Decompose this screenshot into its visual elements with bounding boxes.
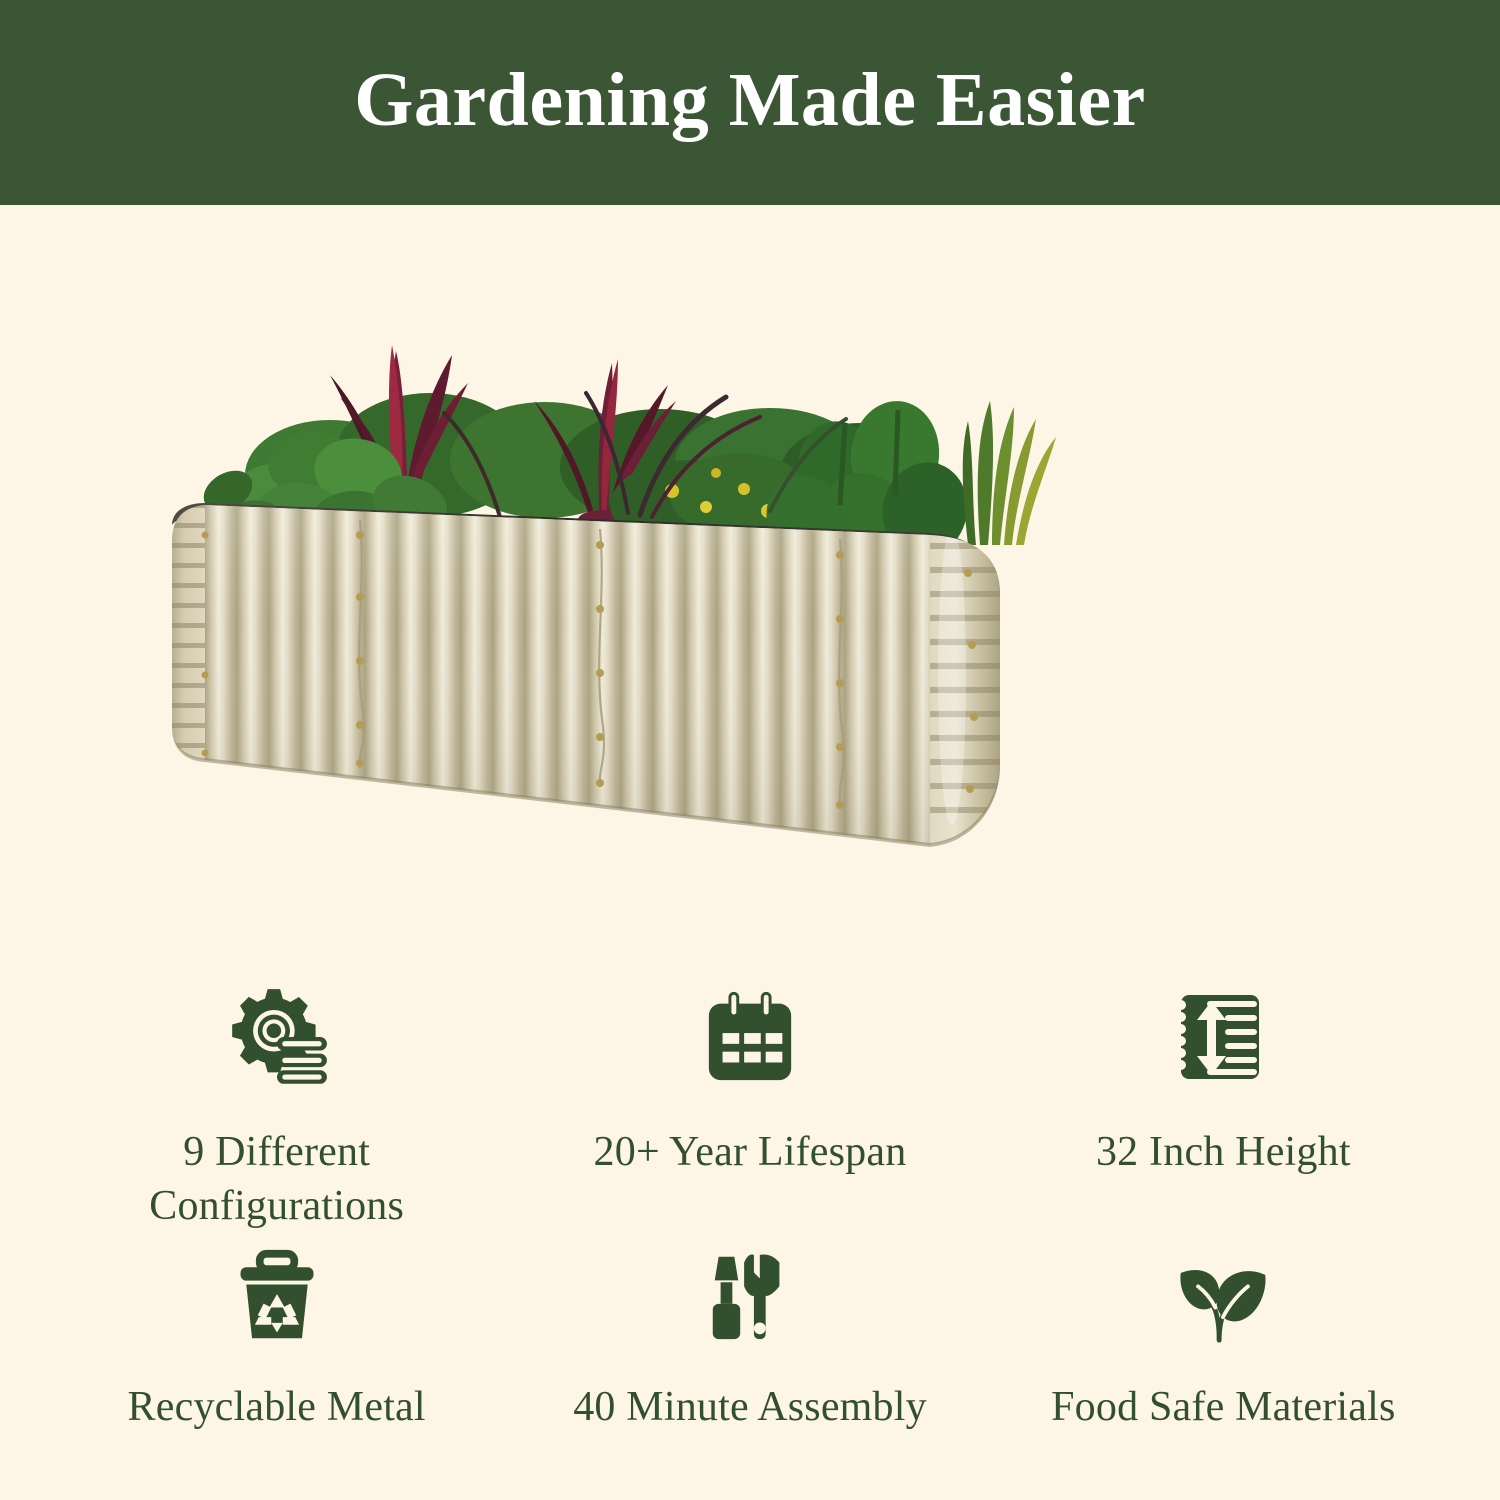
feature-food-safe: Food Safe Materials: [987, 1235, 1460, 1500]
product-hero-image: [0, 205, 1500, 965]
gear-settings-icon: [225, 982, 329, 1092]
feature-assembly: 40 Minute Assembly: [513, 1235, 986, 1500]
feature-label: 32 Inch Height: [1096, 1126, 1351, 1180]
calendar-icon: [701, 982, 799, 1092]
feature-height: 32 Inch Height: [987, 960, 1460, 1235]
feature-recyclable: Recyclable Metal: [40, 1235, 513, 1500]
feature-label: Recyclable Metal: [128, 1381, 426, 1435]
leaf-icon: [1173, 1241, 1273, 1351]
planter-body: [165, 485, 1010, 885]
ruler-height-icon: [1173, 982, 1273, 1092]
tools-icon: [701, 1241, 799, 1351]
snake-plant: [963, 401, 1056, 545]
feature-label: Food Safe Materials: [1051, 1381, 1395, 1435]
page-title: Gardening Made Easier: [354, 62, 1146, 144]
feature-configurations: 9 DifferentConfigurations: [40, 960, 513, 1235]
header-banner: Gardening Made Easier: [0, 0, 1500, 205]
feature-label: 20+ Year Lifespan: [594, 1126, 907, 1180]
feature-lifespan: 20+ Year Lifespan: [513, 960, 986, 1235]
features-grid: 9 DifferentConfigurations 20+ Year Lifes…: [0, 960, 1500, 1500]
recycle-bin-icon: [229, 1241, 325, 1351]
feature-label: 9 DifferentConfigurations: [149, 1126, 404, 1234]
planter-illustration: [0, 205, 1500, 965]
feature-label: 40 Minute Assembly: [573, 1381, 927, 1435]
